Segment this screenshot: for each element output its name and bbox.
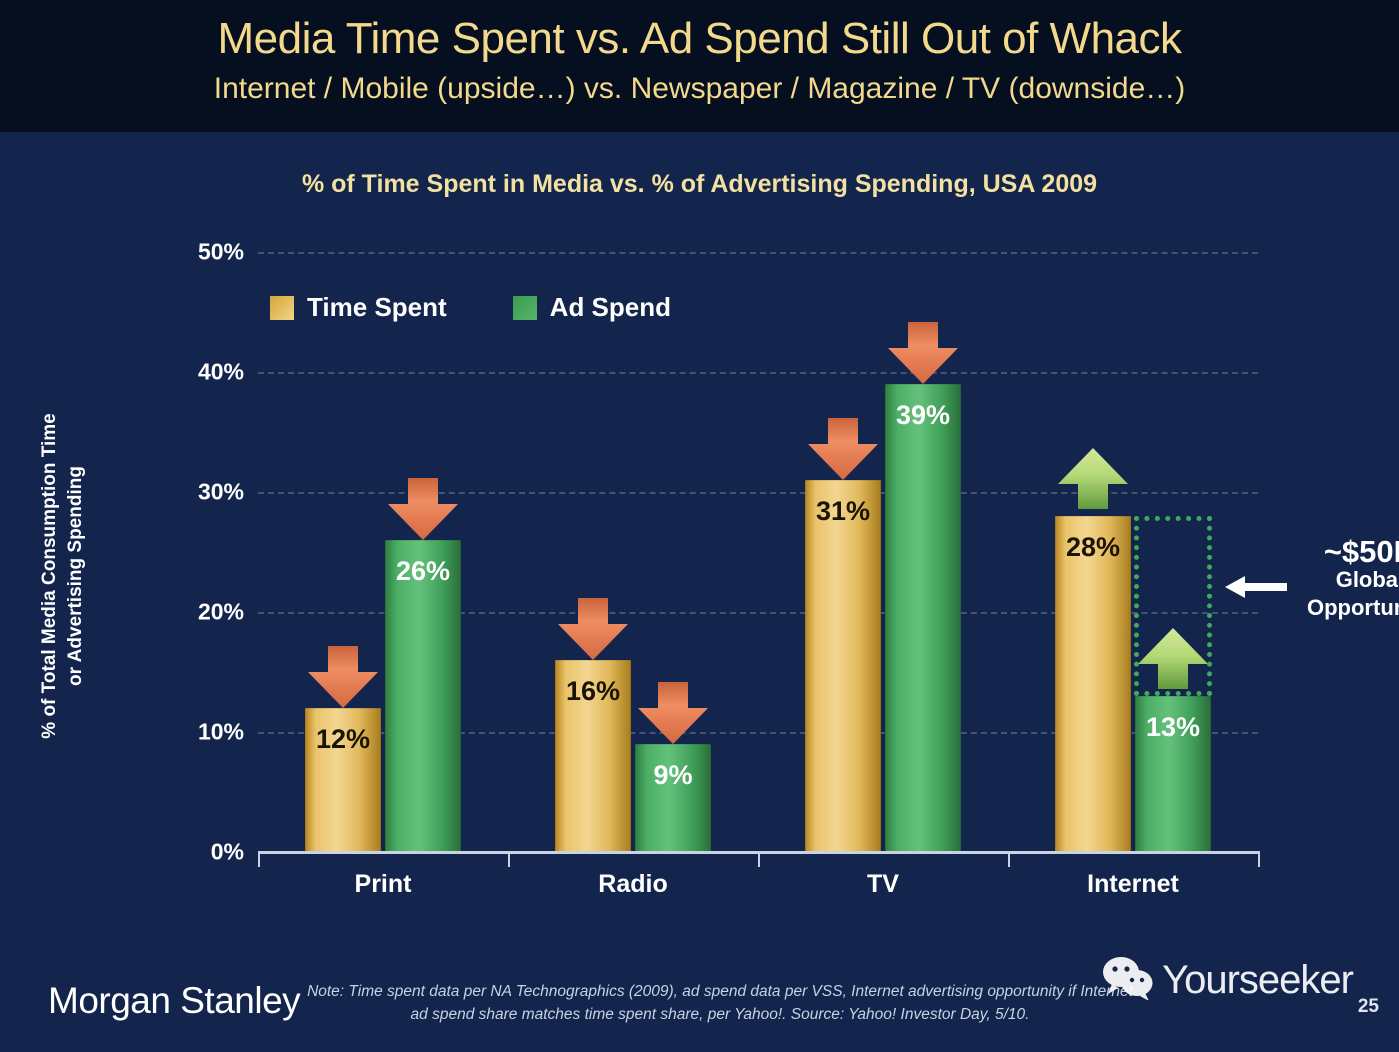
bar-tv-ad-spend[interactable]: 39% [885, 384, 961, 852]
bar-value-label: 9% [635, 760, 711, 791]
bar-value-label: 12% [305, 724, 381, 755]
bar-tv-time-spent[interactable]: 31% [805, 480, 881, 852]
opportunity-pointer-arrow-icon [1225, 574, 1287, 600]
trend-arrow-down-radio-time-spent [556, 598, 630, 662]
y-axis-tick-label: 10% [124, 719, 244, 746]
slide-header-band: Media Time Spent vs. Ad Spend Still Out … [0, 0, 1399, 132]
trend-arrow-down-radio-ad-spend [636, 682, 710, 746]
bar-value-label: 13% [1135, 712, 1211, 743]
slide-footer: Morgan Stanley Note: Time spent data per… [0, 952, 1399, 1052]
bar-print-ad-spend[interactable]: 26% [385, 540, 461, 852]
y-axis-tick-label: 40% [124, 359, 244, 386]
trend-arrow-down-tv-time-spent [806, 418, 880, 482]
y-axis-title: % of Total Media Consumption Time or Adv… [37, 356, 89, 796]
slide-body: % of Time Spent in Media vs. % of Advert… [0, 132, 1399, 1052]
x-axis-label-print: Print [258, 870, 508, 899]
bar-value-label: 28% [1055, 532, 1131, 563]
bar-value-label: 31% [805, 496, 881, 527]
opportunity-amount: ~$50B [1307, 538, 1399, 566]
page-number: 25 [1358, 996, 1379, 1018]
y-axis-tick-label: 20% [124, 599, 244, 626]
slide-title: Media Time Spent vs. Ad Spend Still Out … [0, 14, 1399, 64]
bar-internet-time-spent[interactable]: 28% [1055, 516, 1131, 852]
bar-value-label: 39% [885, 400, 961, 431]
gridline [258, 372, 1258, 374]
trend-arrow-down-print-time-spent [306, 646, 380, 710]
trend-arrow-up-internet-time-spent [1056, 446, 1130, 510]
bar-radio-time-spent[interactable]: 16% [555, 660, 631, 852]
watermark-text: Yourseeker [1162, 958, 1353, 1003]
x-axis-tick [508, 851, 510, 867]
opportunity-label: GlobalOpportunity [1307, 566, 1399, 622]
morgan-stanley-logo: Morgan Stanley [48, 980, 300, 1022]
bar-value-label: 16% [555, 676, 631, 707]
bar-value-label: 26% [385, 556, 461, 587]
bar-internet-ad-spend[interactable]: 13% [1135, 696, 1211, 852]
footer-note: Note: Time spent data per NA Technograph… [300, 980, 1140, 1026]
bar-print-time-spent[interactable]: 12% [305, 708, 381, 852]
bar-radio-ad-spend[interactable]: 9% [635, 744, 711, 852]
trend-arrow-down-print-ad-spend [386, 478, 460, 542]
y-axis-tick-label: 0% [124, 839, 244, 866]
footer-note-line-2: spend share matches time spent share, pe… [432, 1006, 1029, 1023]
x-axis-tick [258, 851, 260, 867]
plot-area: 0%10%20%30%40%50%12%26%16%9%31%39%28%13%… [258, 252, 1258, 852]
y-axis-tick-label: 50% [124, 239, 244, 266]
x-axis-label-internet: Internet [1008, 870, 1258, 899]
x-axis-tick [1258, 851, 1260, 867]
y-axis-tick-label: 30% [124, 479, 244, 506]
wechat-icon [1102, 956, 1154, 1005]
slide-subtitle: Internet / Mobile (upside…) vs. Newspape… [0, 72, 1399, 106]
chart-title: % of Time Spent in Media vs. % of Advert… [0, 170, 1399, 199]
gridline [258, 252, 1258, 254]
x-axis-label-tv: TV [758, 870, 1008, 899]
watermark: Yourseeker [1102, 956, 1353, 1005]
x-axis-label-radio: Radio [508, 870, 758, 899]
x-axis-tick [758, 851, 760, 867]
opportunity-box [1134, 516, 1212, 696]
opportunity-annotation: ~$50BGlobalOpportunity [1307, 538, 1399, 622]
x-axis-tick [1008, 851, 1010, 867]
trend-arrow-down-tv-ad-spend [886, 322, 960, 386]
